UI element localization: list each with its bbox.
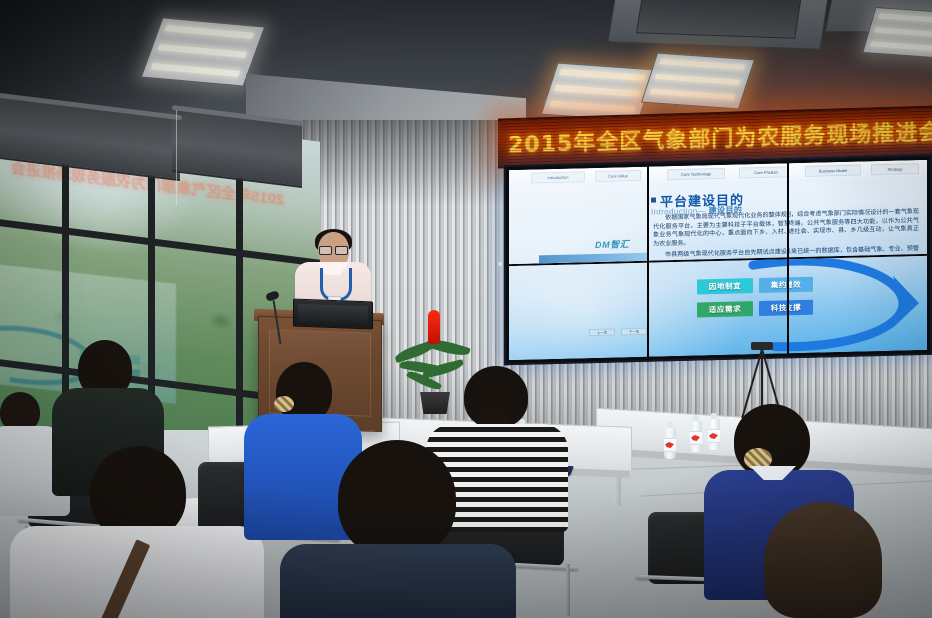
- video-wall-panel: Introduction Core Value DM智汇 上一页 下一页: [509, 167, 647, 264]
- attendee-head: [338, 440, 456, 558]
- attendee-head: [276, 362, 332, 422]
- ceiling-light-panel: [862, 7, 932, 59]
- video-wall-panel: 集约增效 科技支撑: [789, 256, 927, 353]
- water-bottle[interactable]: [690, 420, 702, 452]
- slide-background: [509, 263, 647, 360]
- attendee: [296, 440, 496, 618]
- video-wall-panels: Introduction Core Value DM智汇 上一页 下一页: [509, 160, 927, 360]
- video-wall-panel: Core Technology Core Product 平台建设目的 Intr…: [649, 163, 787, 260]
- attendee: [24, 446, 254, 618]
- attendee: [740, 502, 900, 618]
- lcd-video-wall[interactable]: Introduction Core Value DM智汇 上一页 下一页: [504, 155, 932, 365]
- glasses-icon: [319, 246, 348, 253]
- video-wall-panel: Business Model Strategy 依据国家气象局现代气象现代化业务…: [789, 160, 927, 257]
- ceiling-light-panel: [541, 63, 656, 122]
- plant-flower: [428, 310, 440, 344]
- laptop-on-podium[interactable]: [293, 299, 373, 330]
- cassette-air-conditioner: [608, 0, 831, 50]
- slide-background: [789, 160, 927, 257]
- hair-scrunchie: [274, 396, 294, 412]
- chair-post: [566, 564, 570, 616]
- water-bottle[interactable]: [664, 427, 676, 459]
- slide-background: [649, 163, 787, 260]
- blind-chain[interactable]: [176, 110, 177, 206]
- wall-mount-screw: [498, 262, 502, 266]
- led-banner-text: 2015年全区气象部门为农服务现场推进会: [508, 114, 932, 159]
- video-wall-panel: 上一页 下一页: [509, 263, 647, 360]
- conference-room-photo: 2015年全区气象部门为农服务现场推进会 Introduction Core V…: [0, 0, 932, 618]
- ceiling-light-panel: [641, 53, 755, 110]
- attendee-torso: [280, 544, 516, 618]
- slide-background: [509, 167, 647, 264]
- slide-background: [789, 256, 927, 353]
- attendee-head: [764, 502, 882, 618]
